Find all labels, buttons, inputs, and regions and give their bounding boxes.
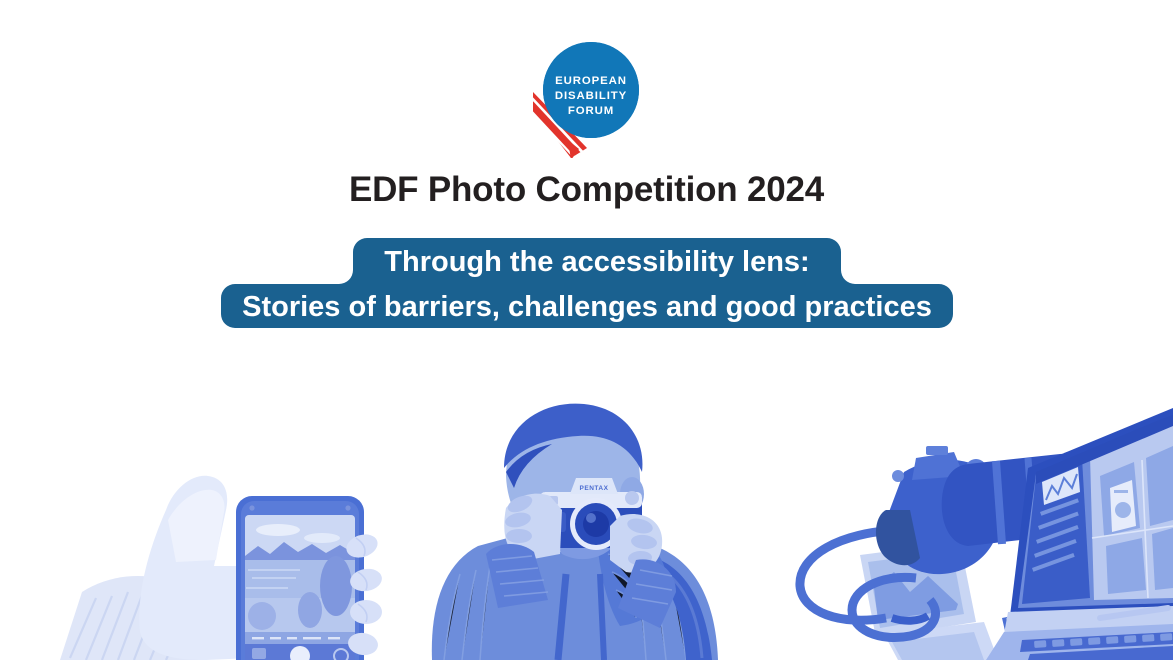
- page-title: EDF Photo Competition 2024: [0, 168, 1173, 212]
- logo-text-line-3: FORUM: [567, 105, 613, 117]
- banner-text-line-2: Stories of barriers, challenges and good…: [242, 291, 932, 323]
- photo-strip: PENTAX: [0, 360, 1173, 660]
- photo-hand-holding-smartphone: [60, 476, 384, 660]
- photo-dslr-camera-and-laptop: [800, 408, 1173, 660]
- photo-man-with-film-camera: PENTAX: [432, 404, 718, 660]
- logo-block: EUROPEAN DISABILITY FORUM: [0, 36, 1173, 158]
- svg-text:PENTAX: PENTAX: [580, 485, 609, 492]
- european-disability-forum-logo: EUROPEAN DISABILITY FORUM: [527, 36, 647, 158]
- tagline-banner: Through the accessibility lens: Stories …: [0, 238, 1173, 328]
- banner-text-line-1: Through the accessibility lens:: [384, 246, 809, 278]
- laptop: [1010, 408, 1173, 616]
- logo-text-line-2: DISABILITY: [554, 90, 626, 102]
- logo-text-line-1: EUROPEAN: [555, 75, 627, 87]
